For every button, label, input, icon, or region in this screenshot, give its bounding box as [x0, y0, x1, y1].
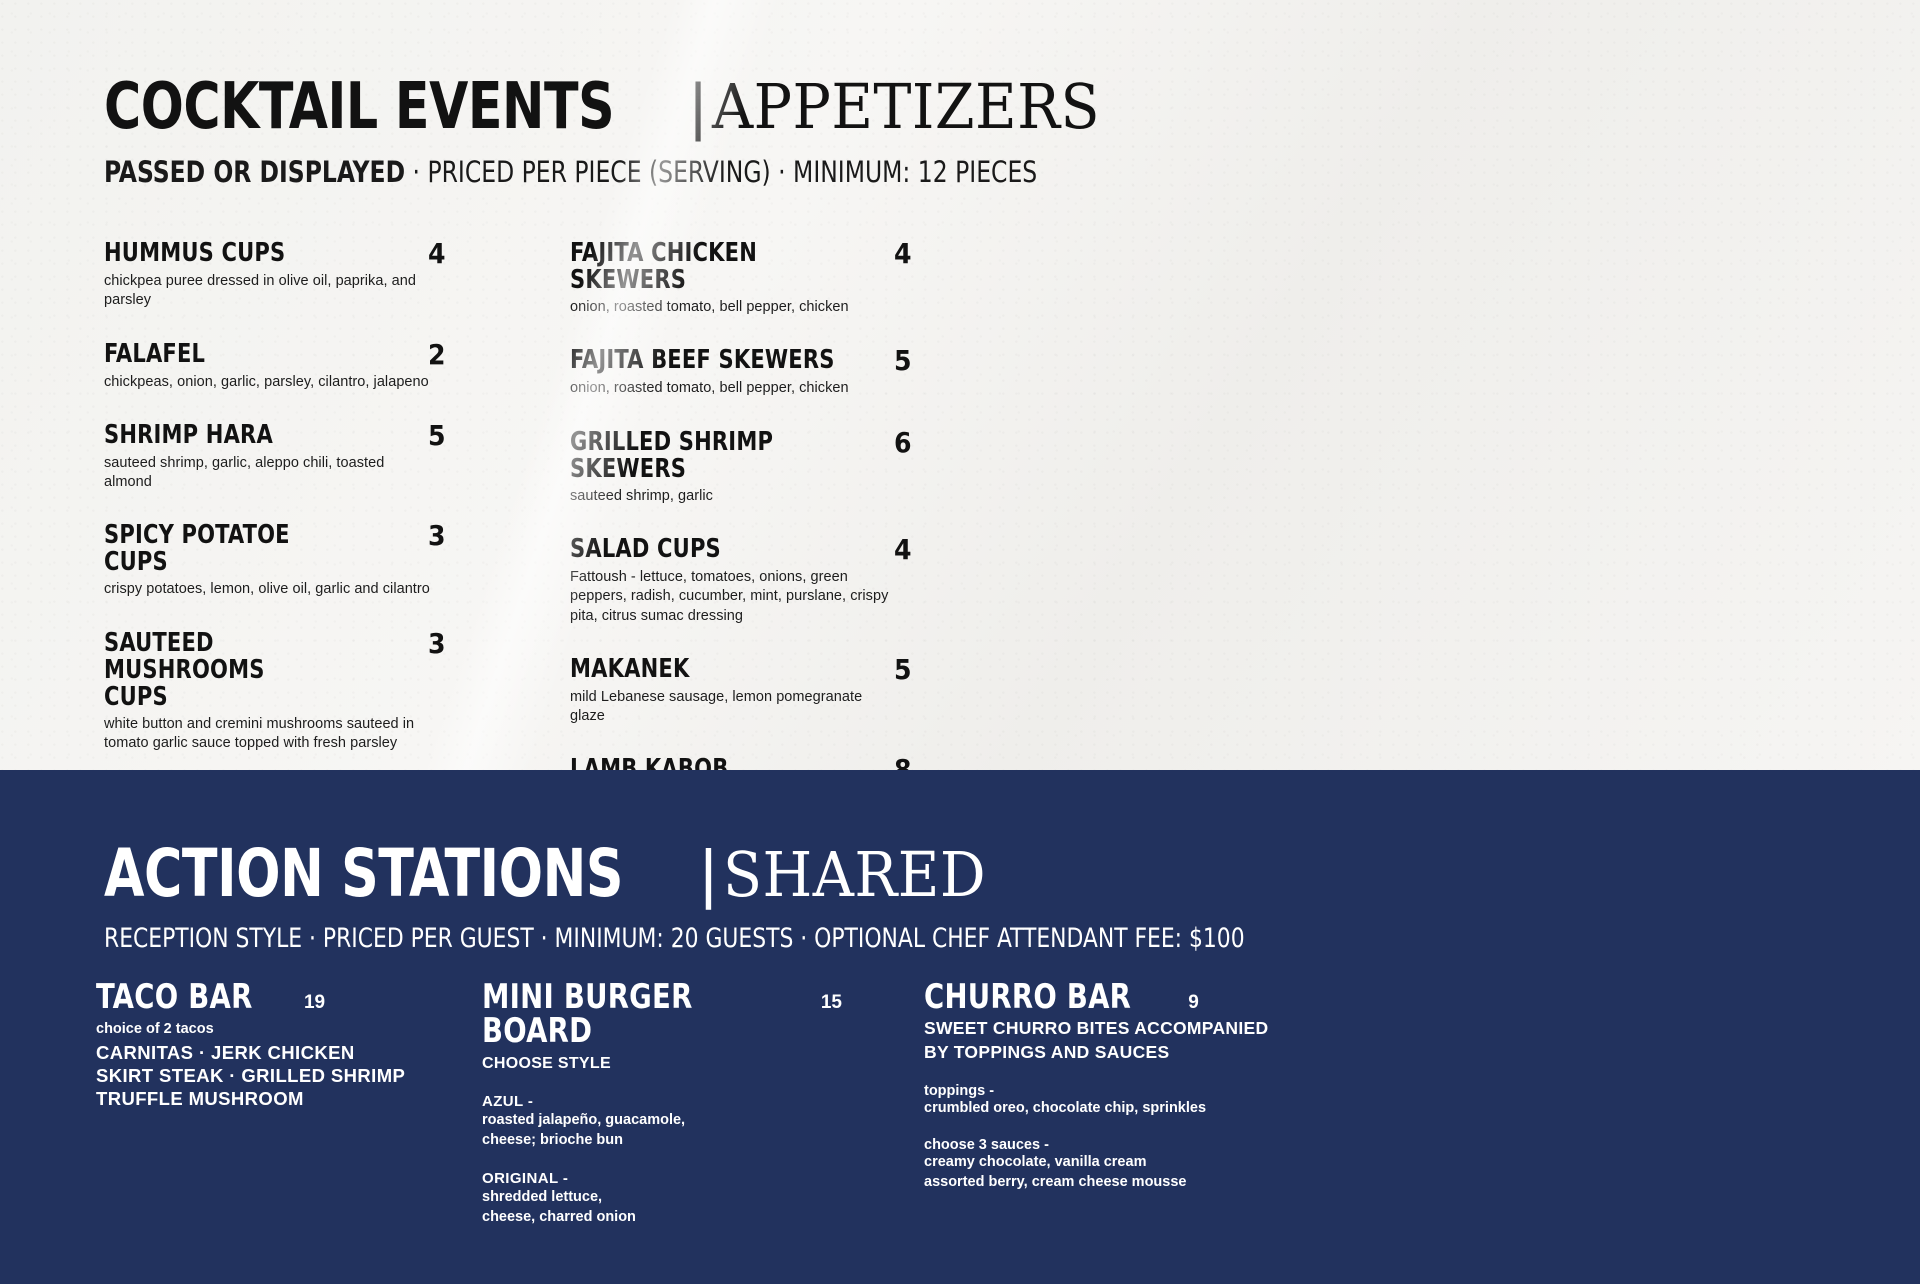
appetizers-header: COCKTAIL EVENTS|APPETIZERS PASSED OR DIS…	[104, 74, 1141, 189]
station-choices: CARNITAS · JERK CHICKEN SKIRT STEAK · GR…	[96, 1041, 456, 1110]
menu-item-price: 2	[428, 341, 474, 369]
menu-item-head: FALAFEL 2	[104, 341, 474, 369]
station-subtitle: choice of 2 tacos	[96, 1021, 456, 1037]
menu-item-description: onion, roasted tomato, bell pepper, chic…	[570, 379, 900, 398]
station-block: choose 3 sauces - creamy chocolate, vani…	[924, 1137, 1324, 1191]
menu-item-price: 5	[894, 347, 940, 375]
station-block: toppings - crumbled oreo, chocolate chip…	[924, 1083, 1324, 1118]
menu-item: SALAD CUPS 4 Fattoush - lettuce, tomatoe…	[570, 536, 940, 626]
menu-item: FALAFEL 2 chickpeas, onion, garlic, pars…	[104, 341, 474, 392]
menu-item-description: chickpeas, onion, garlic, parsley, cilan…	[104, 373, 434, 392]
station-option-desc-line: cheese, charred onion	[482, 1208, 842, 1227]
menu-item-description: white button and cremini mushrooms saute…	[104, 715, 434, 754]
menu-item-price: 4	[894, 536, 940, 564]
appetizers-column-2: FAJITA CHICKEN SKEWERS 4 onion, roasted …	[570, 240, 940, 857]
station-choice-line: SKIRT STEAK · GRILLED SHRIMP	[96, 1064, 456, 1087]
station-block-label: toppings -	[924, 1083, 1324, 1099]
action-stations-subtitle: RECEPTION STYLE · PRICED PER GUEST · MIN…	[104, 923, 1245, 954]
menu-item-head: SALAD CUPS 4	[570, 536, 940, 564]
station-choice-line: CARNITAS · JERK CHICKEN	[96, 1041, 456, 1064]
appetizers-title: COCKTAIL EVENTS|APPETIZERS	[104, 74, 1141, 139]
appetizers-title-bold: COCKTAIL EVENTS	[104, 75, 614, 139]
station-churro-bar: CHURRO BAR 9 SWEET CHURRO BITES ACCOMPAN…	[924, 980, 1324, 1192]
menu-item-name: FALAFEL	[104, 341, 316, 368]
station-head: CHURRO BAR 9	[924, 980, 1324, 1014]
station-price: 15	[821, 992, 842, 1014]
station-name: CHURRO BAR	[924, 980, 1131, 1014]
action-stations-title-divider: |	[694, 840, 723, 906]
station-head: MINI BURGER BOARD 15	[482, 980, 842, 1048]
menu-item: SHRIMP HARA 5 sauteed shrimp, garlic, al…	[104, 422, 474, 493]
menu-item: SAUTEED MUSHROOMS CUPS 3 white button an…	[104, 630, 474, 754]
menu-item-price: 6	[894, 429, 940, 457]
menu-item-description: mild Lebanese sausage, lemon pomegranate…	[570, 688, 900, 727]
station-price: 9	[1188, 992, 1199, 1014]
menu-item-description: chickpea puree dressed in olive oil, pap…	[104, 272, 434, 311]
menu-item-head: MAKANEK 5	[570, 656, 940, 684]
menu-item-head: FAJITA BEEF SKEWERS 5	[570, 347, 940, 375]
station-subtitle-line: SWEET CHURRO BITES ACCOMPANIED	[924, 1017, 1324, 1041]
station-option: ORIGINAL - shredded lettuce, cheese, cha…	[482, 1170, 842, 1227]
appetizers-title-serif: APPETIZERS	[712, 76, 1100, 138]
menu-item-head: HUMMUS CUPS 4	[104, 240, 474, 268]
menu-item-head: SHRIMP HARA 5	[104, 422, 474, 450]
menu-item-price: 3	[428, 522, 474, 550]
menu-item-name: SAUTEED MUSHROOMS CUPS	[104, 630, 316, 711]
station-name: TACO BAR	[96, 980, 253, 1014]
action-stations-title-bold: ACTION STATIONS	[104, 841, 623, 907]
menu-item-name: HUMMUS CUPS	[104, 240, 316, 267]
menu-item-price: 5	[428, 422, 474, 450]
menu-item-name: FAJITA CHICKEN SKEWERS	[570, 240, 836, 294]
action-stations-header: ACTION STATIONS|SHARED RECEPTION STYLE ·…	[104, 840, 1371, 954]
station-head: TACO BAR 19	[96, 980, 456, 1014]
menu-page: COCKTAIL EVENTS|APPETIZERS PASSED OR DIS…	[0, 0, 1920, 1284]
station-option-label: ORIGINAL -	[482, 1170, 842, 1187]
action-stations-section: ACTION STATIONS|SHARED RECEPTION STYLE ·…	[0, 770, 1920, 1284]
menu-item-name: SPICY POTATOE CUPS	[104, 522, 316, 576]
menu-item-price: 4	[894, 240, 940, 268]
menu-item-name: GRILLED SHRIMP SKEWERS	[570, 429, 836, 483]
menu-item-description: crispy potatoes, lemon, olive oil, garli…	[104, 580, 434, 599]
station-block-line: creamy chocolate, vanilla cream	[924, 1153, 1324, 1172]
menu-item-price: 4	[428, 240, 474, 268]
menu-item: MAKANEK 5 mild Lebanese sausage, lemon p…	[570, 656, 940, 727]
action-stations-title-serif: SHARED	[723, 844, 986, 906]
menu-item: FAJITA CHICKEN SKEWERS 4 onion, roasted …	[570, 240, 940, 317]
station-option-desc-line: roasted jalapeño, guacamole,	[482, 1111, 842, 1130]
station-price: 19	[304, 992, 325, 1014]
menu-item-head: SAUTEED MUSHROOMS CUPS 3	[104, 630, 474, 711]
station-subtitle: SWEET CHURRO BITES ACCOMPANIED BY TOPPIN…	[924, 1017, 1324, 1064]
menu-item-head: GRILLED SHRIMP SKEWERS 6	[570, 429, 940, 483]
station-taco-bar: TACO BAR 19 choice of 2 tacos CARNITAS ·…	[96, 980, 456, 1110]
station-subtitle-line: BY TOPPINGS AND SAUCES	[924, 1041, 1324, 1065]
appetizers-subtitle: PASSED OR DISPLAYED · PRICED PER PIECE (…	[104, 155, 1037, 189]
station-name: MINI BURGER BOARD	[482, 980, 756, 1048]
menu-item-head: SPICY POTATOE CUPS 3	[104, 522, 474, 576]
menu-item: FAJITA BEEF SKEWERS 5 onion, roasted tom…	[570, 347, 940, 398]
menu-item-price: 5	[894, 656, 940, 684]
appetizers-title-divider: |	[684, 74, 713, 138]
menu-item-name: FAJITA BEEF SKEWERS	[570, 347, 836, 374]
menu-item-name: SALAD CUPS	[570, 536, 836, 563]
station-block-line: assorted berry, cream cheese mousse	[924, 1173, 1324, 1192]
appetizers-subtitle-rest: · PRICED PER PIECE (SERVING) · MINIMUM: …	[405, 155, 1037, 189]
menu-item-price: 3	[428, 630, 474, 658]
menu-item-description: onion, roasted tomato, bell pepper, chic…	[570, 298, 900, 317]
cocktail-events-section: COCKTAIL EVENTS|APPETIZERS PASSED OR DIS…	[0, 0, 1920, 770]
menu-item-head: FAJITA CHICKEN SKEWERS 4	[570, 240, 940, 294]
station-block-label: choose 3 sauces -	[924, 1137, 1324, 1153]
station-option: AZUL - roasted jalapeño, guacamole, chee…	[482, 1093, 842, 1150]
menu-item: SPICY POTATOE CUPS 3 crispy potatoes, le…	[104, 522, 474, 599]
station-option-desc-line: cheese; brioche bun	[482, 1131, 842, 1150]
station-mini-burger-board: MINI BURGER BOARD 15 CHOOSE STYLE AZUL -…	[482, 980, 842, 1228]
menu-item-description: Fattoush - lettuce, tomatoes, onions, gr…	[570, 568, 900, 626]
menu-item: HUMMUS CUPS 4 chickpea puree dressed in …	[104, 240, 474, 311]
menu-item-description: sauteed shrimp, garlic	[570, 487, 900, 506]
menu-item-name: SHRIMP HARA	[104, 422, 316, 449]
station-choice-line: TRUFFLE MUSHROOM	[96, 1087, 456, 1110]
menu-item-description: sauteed shrimp, garlic, aleppo chili, to…	[104, 454, 434, 493]
station-option-desc-line: shredded lettuce,	[482, 1188, 842, 1207]
appetizers-subtitle-bold: PASSED OR DISPLAYED	[104, 155, 405, 189]
station-block-line: crumbled oreo, chocolate chip, sprinkles	[924, 1099, 1324, 1118]
appetizers-column-1: HUMMUS CUPS 4 chickpea puree dressed in …	[104, 240, 474, 783]
action-stations-title: ACTION STATIONS|SHARED	[104, 840, 1371, 907]
menu-item: GRILLED SHRIMP SKEWERS 6 sauteed shrimp,…	[570, 429, 940, 506]
menu-item-name: MAKANEK	[570, 656, 836, 683]
station-option-label: AZUL -	[482, 1093, 842, 1110]
station-subtitle: CHOOSE STYLE	[482, 1055, 842, 1073]
